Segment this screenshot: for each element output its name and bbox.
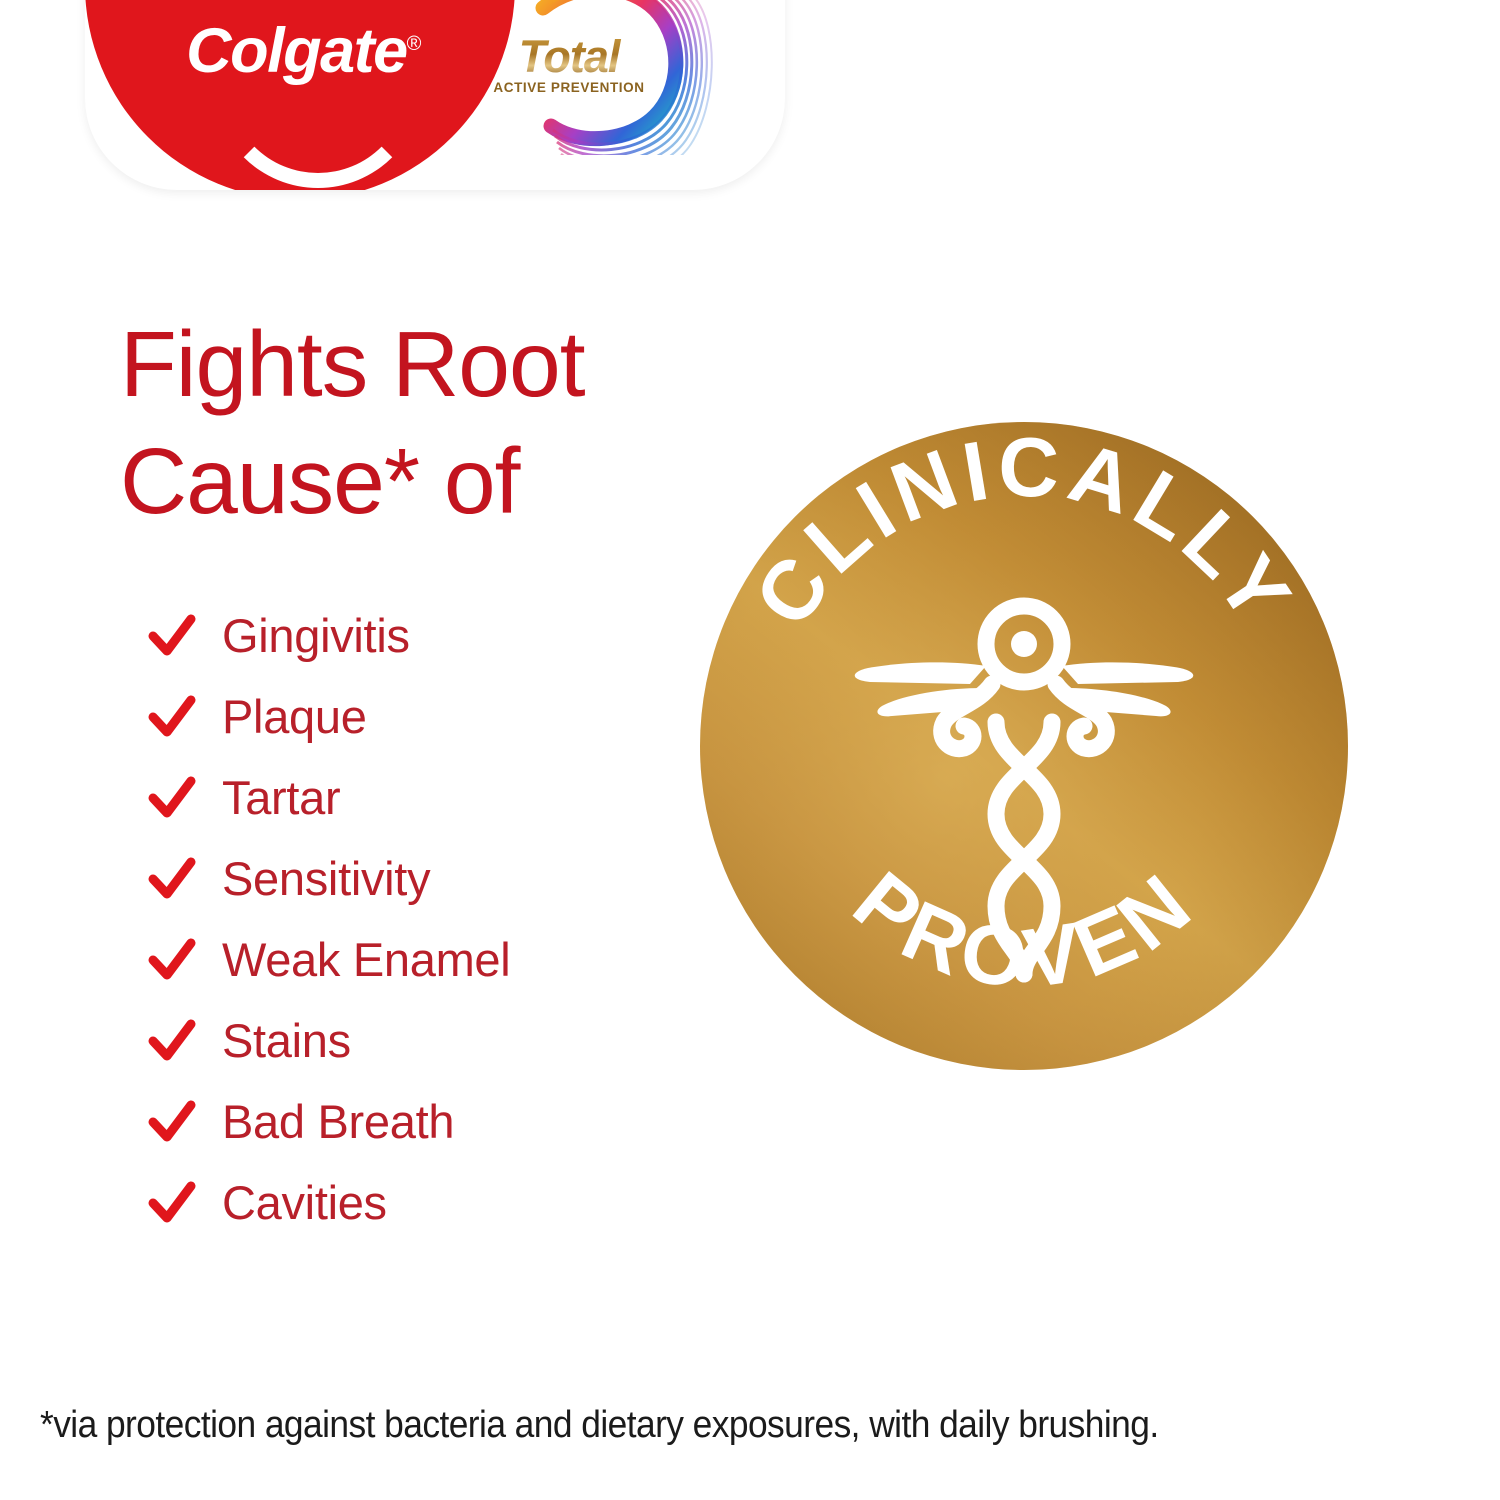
list-item: Gingivitis xyxy=(148,595,668,676)
brand-header-panel: Colgate® xyxy=(85,0,785,190)
registered-mark: ® xyxy=(407,33,420,55)
total-wordmark: Total xyxy=(489,34,649,79)
headline-line-2: Cause* of xyxy=(120,423,760,540)
list-item: Sensitivity xyxy=(148,838,668,919)
benefit-label: Sensitivity xyxy=(222,855,430,902)
benefit-label: Plaque xyxy=(222,693,367,740)
page-headline: Fights Root Cause* of xyxy=(120,306,760,540)
check-icon xyxy=(148,1098,196,1146)
check-icon xyxy=(148,936,196,984)
headline-line-1: Fights Root xyxy=(120,306,760,423)
total-sub-brand-lockup: Total ACTIVE PREVENTION xyxy=(483,0,713,155)
list-item: Weak Enamel xyxy=(148,919,668,1000)
benefit-label: Tartar xyxy=(222,774,340,821)
list-item: Stains xyxy=(148,1000,668,1081)
total-tagline: ACTIVE PREVENTION xyxy=(489,80,649,95)
benefit-label: Weak Enamel xyxy=(222,936,510,983)
check-icon xyxy=(148,693,196,741)
list-item: Plaque xyxy=(148,676,668,757)
benefit-label: Stains xyxy=(222,1017,351,1064)
check-icon xyxy=(148,612,196,660)
benefits-list: Gingivitis Plaque Tartar Sensitivity Wea… xyxy=(148,595,668,1243)
clinically-proven-seal: CLINICALLY PROVEN xyxy=(700,422,1348,1070)
list-item: Bad Breath xyxy=(148,1081,668,1162)
check-icon xyxy=(148,774,196,822)
check-icon xyxy=(148,1017,196,1065)
check-icon xyxy=(148,1179,196,1227)
check-icon xyxy=(148,855,196,903)
footnote: *via protection against bacteria and die… xyxy=(40,1405,1370,1447)
list-item: Tartar xyxy=(148,757,668,838)
benefit-label: Bad Breath xyxy=(222,1098,454,1145)
benefit-label: Gingivitis xyxy=(222,612,410,659)
list-item: Cavities xyxy=(148,1162,668,1243)
benefit-label: Cavities xyxy=(222,1179,387,1226)
